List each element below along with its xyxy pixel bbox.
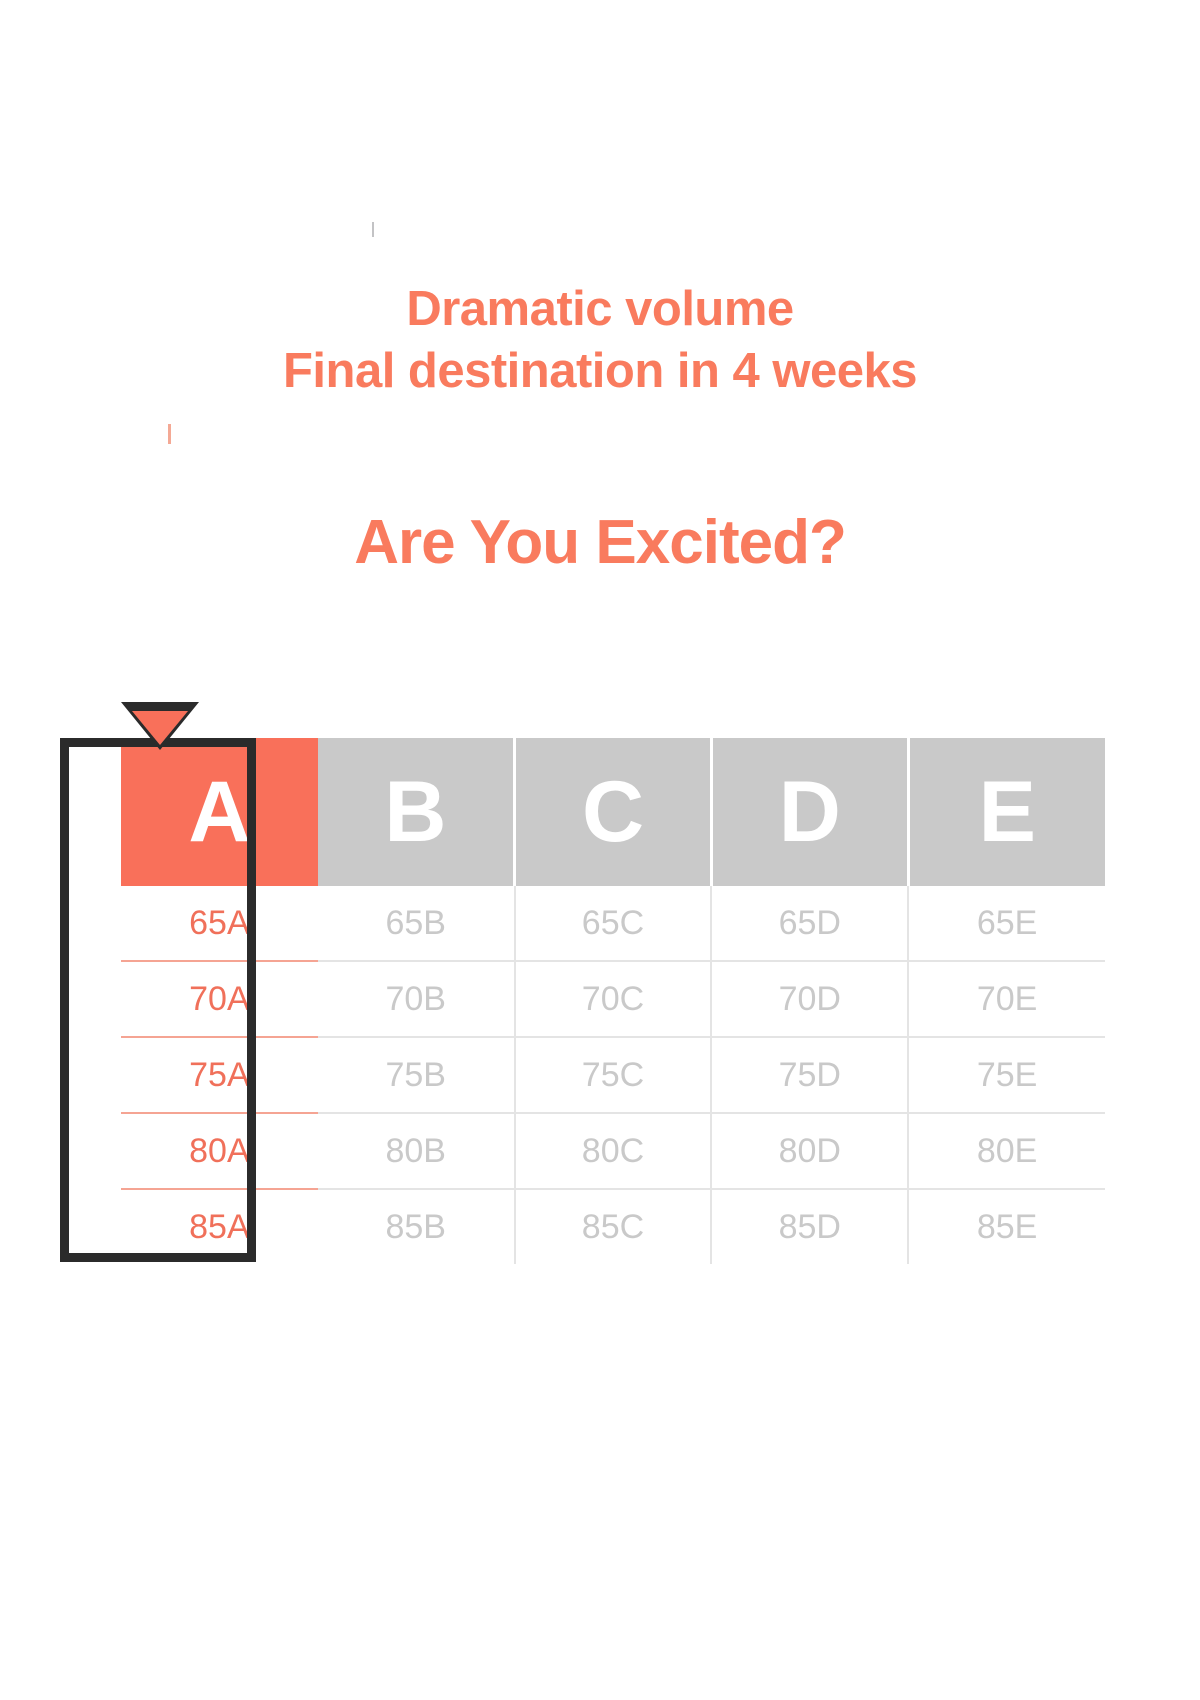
size-chart-header-row: A B C D E	[121, 738, 1105, 886]
headline-line-2: Final destination in 4 weeks	[0, 340, 1200, 402]
headline: Dramatic volume Final destination in 4 w…	[0, 278, 1200, 402]
size-cell-75a[interactable]: 75A	[121, 1037, 318, 1113]
size-cell-85d[interactable]: 85D	[711, 1189, 908, 1264]
triangle-down-icon-fill	[132, 711, 188, 745]
column-header-a[interactable]: A	[121, 738, 318, 886]
headline-line-1: Dramatic volume	[0, 278, 1200, 340]
table-row: 80A 80B 80C 80D 80E	[121, 1113, 1105, 1189]
scan-artifact-tick	[372, 222, 374, 237]
table-row: 70A 70B 70C 70D 70E	[121, 961, 1105, 1037]
size-cell-70e[interactable]: 70E	[908, 961, 1105, 1037]
size-cell-85c[interactable]: 85C	[515, 1189, 712, 1264]
size-cell-70c[interactable]: 70C	[515, 961, 712, 1037]
size-cell-80a[interactable]: 80A	[121, 1113, 318, 1189]
size-cell-85a[interactable]: 85A	[121, 1189, 318, 1264]
size-cell-65d[interactable]: 65D	[711, 886, 908, 961]
size-cell-75b[interactable]: 75B	[318, 1037, 515, 1113]
size-chart: A B C D E 65A 65B 65C 65D 65E 70A 70B 70…	[60, 738, 1105, 1264]
size-cell-80c[interactable]: 80C	[515, 1113, 712, 1189]
size-cell-80e[interactable]: 80E	[908, 1113, 1105, 1189]
column-header-e[interactable]: E	[908, 738, 1105, 886]
scan-artifact-mark	[168, 424, 171, 444]
subheadline: Are You Excited?	[0, 505, 1200, 581]
size-cell-65b[interactable]: 65B	[318, 886, 515, 961]
size-cell-70b[interactable]: 70B	[318, 961, 515, 1037]
column-header-c[interactable]: C	[515, 738, 712, 886]
table-row: 85A 85B 85C 85D 85E	[121, 1189, 1105, 1264]
size-cell-65e[interactable]: 65E	[908, 886, 1105, 961]
size-cell-70d[interactable]: 70D	[711, 961, 908, 1037]
table-row: 75A 75B 75C 75D 75E	[121, 1037, 1105, 1113]
size-cell-65c[interactable]: 65C	[515, 886, 712, 961]
column-header-d[interactable]: D	[711, 738, 908, 886]
size-cell-75e[interactable]: 75E	[908, 1037, 1105, 1113]
size-cell-80d[interactable]: 80D	[711, 1113, 908, 1189]
column-header-b[interactable]: B	[318, 738, 515, 886]
size-cell-85b[interactable]: 85B	[318, 1189, 515, 1264]
size-cell-80b[interactable]: 80B	[318, 1113, 515, 1189]
table-row: 65A 65B 65C 65D 65E	[121, 886, 1105, 961]
size-chart-table: A B C D E 65A 65B 65C 65D 65E 70A 70B 70…	[121, 738, 1105, 1264]
size-cell-75c[interactable]: 75C	[515, 1037, 712, 1113]
size-cell-85e[interactable]: 85E	[908, 1189, 1105, 1264]
size-cell-70a[interactable]: 70A	[121, 961, 318, 1037]
size-cell-65a[interactable]: 65A	[121, 886, 318, 961]
size-cell-75d[interactable]: 75D	[711, 1037, 908, 1113]
